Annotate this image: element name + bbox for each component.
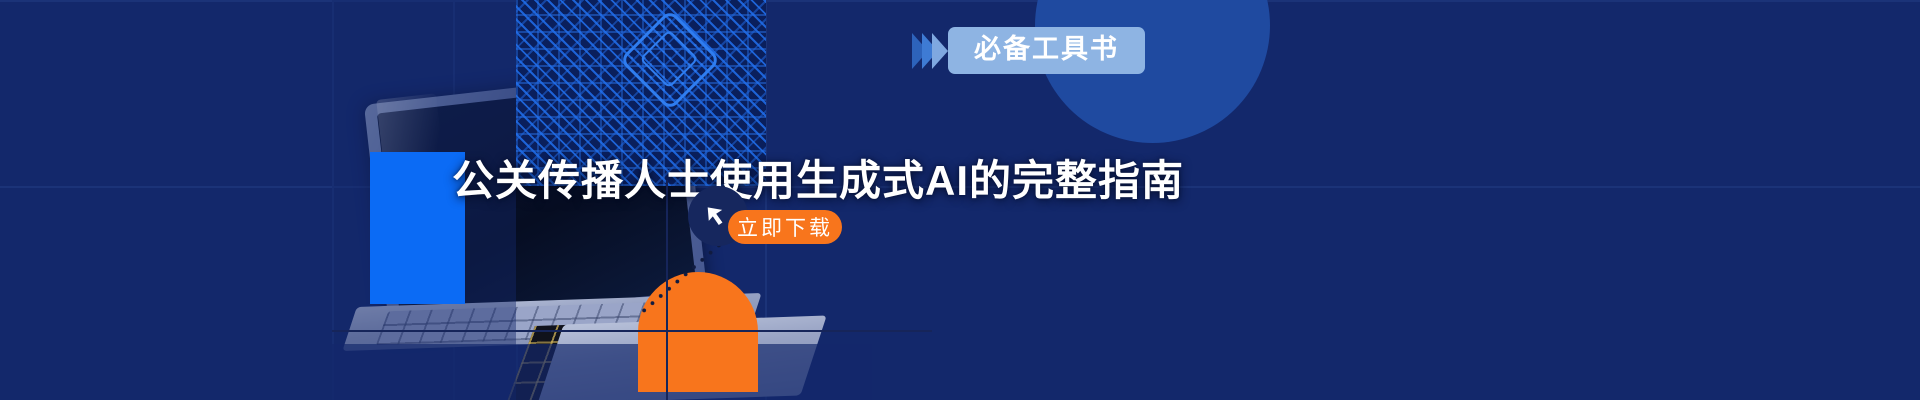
badge-essential-toolbook: 必备工具书 — [912, 27, 1145, 74]
badge-label: 必备工具书 — [948, 27, 1145, 74]
banner-title: 公关传播人士使用生成式AI的完整指南 — [452, 147, 1184, 208]
decor-blue-rectangle — [370, 152, 465, 304]
promo-banner: 必备工具书 公关传播人士使用生成式AI的完整指南 立即下载 — [0, 0, 1920, 400]
chevron-right-icon — [932, 33, 948, 69]
grid-line-vertical-overlay — [666, 180, 668, 400]
decor-orange-dome — [638, 272, 758, 392]
photo-tint-bottom — [332, 344, 872, 400]
grid-line-horizontal — [0, 0, 1920, 2]
grid-line-horizontal-overlay — [332, 330, 932, 332]
chevron-group-icon — [912, 33, 942, 69]
download-now-button[interactable]: 立即下载 — [728, 210, 842, 244]
